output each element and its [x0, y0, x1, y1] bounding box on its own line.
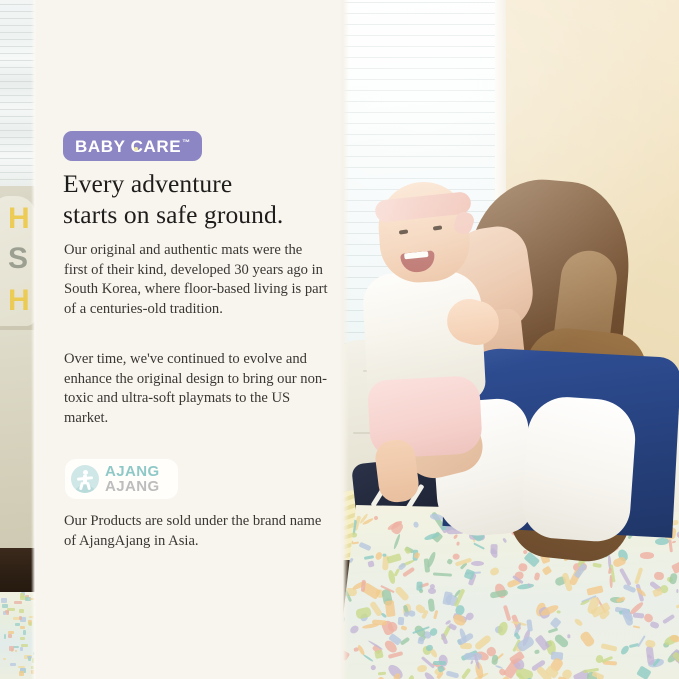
- headline-line-1: Every adventure: [63, 168, 333, 199]
- hero-photo: [343, 0, 679, 679]
- person-in-circle-icon: [71, 465, 99, 493]
- left-photo-sliver: HSH: [0, 0, 36, 679]
- baby-care-logo-badge: BABY CARE™: [63, 131, 202, 161]
- ajangajang-logo-badge: AJANG AJANG: [65, 459, 178, 499]
- baby-care-wordmark: BABY CARE: [75, 137, 181, 156]
- body-paragraph-1: Our original and authentic mats were the…: [64, 241, 329, 319]
- text-panel: BABY CARE™ Every adventure starts on saf…: [36, 0, 343, 679]
- photo-mother-right-leg: [520, 394, 638, 543]
- baby-care-logo-text: BABY CARE™: [75, 138, 190, 155]
- logo-accent-dot: [134, 147, 138, 151]
- headline-line-2: starts on safe ground.: [63, 199, 333, 230]
- ad-creative: HSH BABY CARE™ Every adventure starts on…: [0, 0, 679, 679]
- ajang-word-top: AJANG: [105, 464, 160, 479]
- sliver-pillow-letter: S: [8, 242, 28, 276]
- ajangajang-wordmark: AJANG AJANG: [105, 464, 160, 494]
- sliver-pillow-letter: H: [8, 284, 30, 318]
- trademark-icon: ™: [182, 138, 190, 147]
- body-paragraph-2: Over time, we've continued to evolve and…: [64, 350, 329, 428]
- sliver-pillow-letter: H: [8, 202, 30, 236]
- ajang-word-bottom: AJANG: [105, 479, 160, 494]
- body-paragraph-3: Our Products are sold under the brand na…: [64, 512, 329, 551]
- page-title: Every adventure starts on safe ground.: [63, 168, 333, 230]
